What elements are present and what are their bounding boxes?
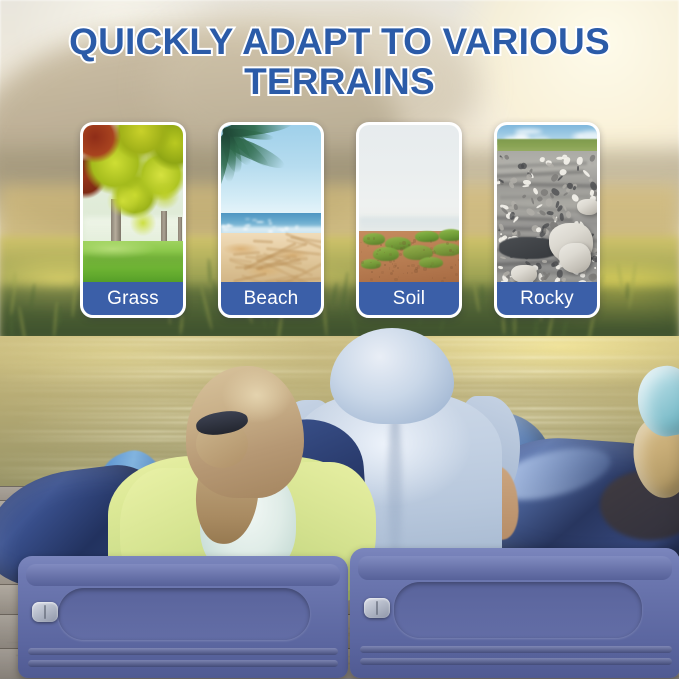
soil-speck xyxy=(384,264,385,265)
pad-rib xyxy=(28,648,338,655)
rocky-scree-slope-photo xyxy=(497,125,597,288)
soil-speck xyxy=(364,241,365,242)
water-ripple xyxy=(0,352,661,355)
large-boulder xyxy=(559,243,591,273)
soil-speck xyxy=(370,278,373,281)
soil-speck xyxy=(411,272,413,274)
boulder xyxy=(577,199,597,215)
soil-speck xyxy=(434,250,435,251)
soil-speck xyxy=(455,264,456,265)
pad-inner-panel xyxy=(58,588,310,640)
water-ripple xyxy=(0,361,659,364)
inflation-valve-cap[interactable] xyxy=(364,598,390,618)
soil-speck xyxy=(458,259,459,261)
terrain-card-soil[interactable]: Soil xyxy=(356,122,462,318)
headline-line-1: QUICKLY ADAPT TO VARIOUS xyxy=(69,21,610,62)
soil-speck xyxy=(391,245,393,247)
water-sparkle xyxy=(227,225,233,228)
soil-speck xyxy=(432,251,435,254)
pebble xyxy=(557,269,563,277)
soil-speck xyxy=(423,267,426,270)
soil-speck xyxy=(398,276,400,278)
lawn-shadow xyxy=(83,255,183,269)
soil-speck xyxy=(456,249,457,250)
soil-speck xyxy=(389,253,392,256)
soil-speck xyxy=(430,265,432,267)
sandy-beach-with-palm-photo xyxy=(221,125,321,288)
terrain-label-beach: Beach xyxy=(221,282,321,315)
soil-speck xyxy=(381,271,383,273)
soil-speck xyxy=(393,265,396,268)
soil-speck xyxy=(402,241,406,245)
soil-speck xyxy=(393,260,395,262)
soil-speck xyxy=(379,276,380,277)
water-ripple xyxy=(1,347,679,350)
terrain-label-grass: Grass xyxy=(83,282,183,315)
pad-top-bolster xyxy=(26,564,340,586)
terrain-card-beach[interactable]: Beach xyxy=(218,122,324,318)
water-ripple xyxy=(0,343,652,346)
water-sparkle xyxy=(268,219,271,222)
soil-speck xyxy=(452,251,454,253)
soil-speck xyxy=(392,270,394,272)
page-title: QUICKLY ADAPT TO VARIOUS TERRAINS xyxy=(0,22,679,102)
water-ripple xyxy=(0,384,657,387)
inflatable-sleeping-pad-left xyxy=(18,556,348,678)
soil-speck xyxy=(389,267,390,268)
pad-rib xyxy=(360,658,672,665)
soil-speck xyxy=(443,277,445,279)
soil-speck xyxy=(415,267,418,270)
palm-frond xyxy=(221,125,301,205)
park-lawn-with-trees-photo xyxy=(83,125,183,288)
water-sparkle xyxy=(223,229,228,231)
sand-ridge xyxy=(235,266,263,269)
terrain-label-rocky: Rocky xyxy=(497,282,597,315)
tree-canopy-lower xyxy=(103,183,183,239)
water-ripple xyxy=(0,379,649,382)
soil-speck xyxy=(430,240,432,242)
boulder xyxy=(511,265,537,283)
water-sparkle xyxy=(246,224,251,226)
soil-speck xyxy=(432,277,433,278)
dry-soil-with-shrubs-photo xyxy=(359,125,459,288)
inflatable-sleeping-pad-right xyxy=(350,548,679,678)
soil-speck xyxy=(429,257,430,258)
soil-speck xyxy=(379,249,380,250)
soil-speck xyxy=(367,245,369,247)
desert-shrub xyxy=(433,243,459,256)
pad-top-bolster xyxy=(358,556,672,580)
inflation-valve-cap[interactable] xyxy=(32,602,58,622)
soil-speck xyxy=(389,260,391,262)
terrain-card-rocky[interactable]: Rocky xyxy=(494,122,600,318)
terrain-card-grass[interactable]: Grass xyxy=(80,122,186,318)
soil-speck xyxy=(397,267,399,269)
pad-rib xyxy=(28,660,338,667)
pebble xyxy=(552,261,558,266)
soil-speck xyxy=(413,239,417,243)
soil-speck xyxy=(394,278,397,281)
soil-speck xyxy=(376,264,379,267)
promo-image: QUICKLY ADAPT TO VARIOUS TERRAINS Grass xyxy=(0,0,679,679)
pad-rib xyxy=(360,646,672,653)
pebble xyxy=(542,259,547,262)
pebble xyxy=(498,265,503,269)
terrain-card-row: Grass Beach Soil xyxy=(0,122,679,320)
soil-speck xyxy=(403,246,405,248)
water-ripple xyxy=(22,338,679,341)
headline-line-2: TERRAINS xyxy=(0,62,679,102)
pad-inner-panel xyxy=(394,582,642,638)
terrain-label-soil: Soil xyxy=(359,282,459,315)
pebble xyxy=(513,204,517,210)
soil-speck xyxy=(455,273,458,276)
pebble xyxy=(518,231,521,236)
water-sparkle xyxy=(269,222,272,225)
